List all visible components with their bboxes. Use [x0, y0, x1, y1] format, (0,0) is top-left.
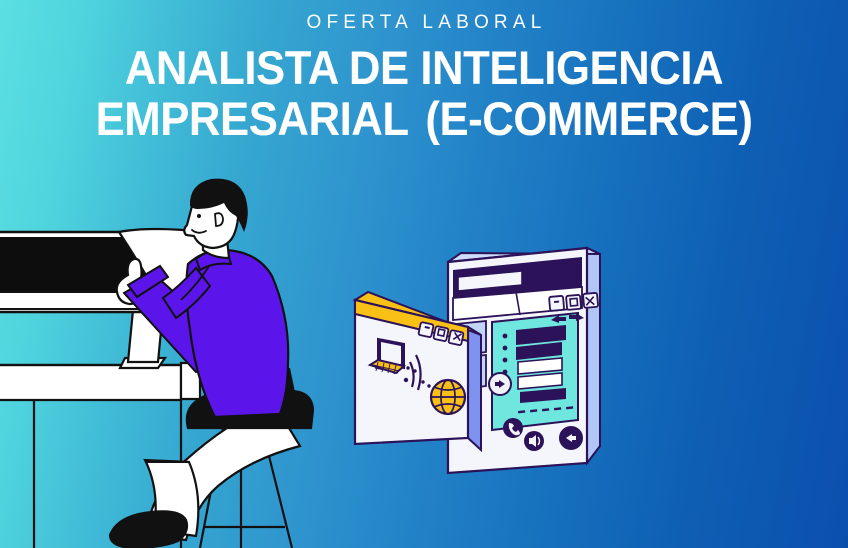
title-line-1: ANALISTA DE INTELIGENCIA — [30, 42, 819, 93]
poster-canvas: OFERTA LABORAL ANALISTA DE INTELIGENCIA … — [0, 0, 848, 548]
title-line-2-part-a: EMPRESARIAL — [96, 92, 409, 145]
title-line-2: EMPRESARIAL(E-COMMERCE) — [30, 93, 819, 144]
desk-top — [0, 363, 200, 400]
phone-button — [503, 418, 523, 438]
desk-surface-left — [0, 365, 181, 400]
heading-block: OFERTA LABORAL ANALISTA DE INTELIGENCIA … — [0, 0, 848, 144]
eyebrow-label: OFERTA LABORAL — [0, 10, 848, 36]
front-maximize-button — [433, 326, 448, 341]
shoe — [110, 511, 187, 548]
rear-window-controls[interactable] — [549, 293, 598, 311]
eye — [197, 214, 201, 218]
title-line-2-part-b: (E-COMMERCE) — [425, 92, 752, 145]
page-title: ANALISTA DE INTELIGENCIA EMPRESARIAL(E-C… — [30, 42, 819, 144]
left-scene — [0, 179, 313, 548]
globe-icon — [431, 380, 465, 414]
ear — [215, 213, 223, 226]
front-window-side-edge — [468, 327, 481, 450]
front-minimize-button — [418, 322, 433, 337]
rear-window-side-edge — [587, 248, 600, 463]
maximize-button — [566, 295, 581, 310]
minimize-button — [549, 296, 564, 311]
